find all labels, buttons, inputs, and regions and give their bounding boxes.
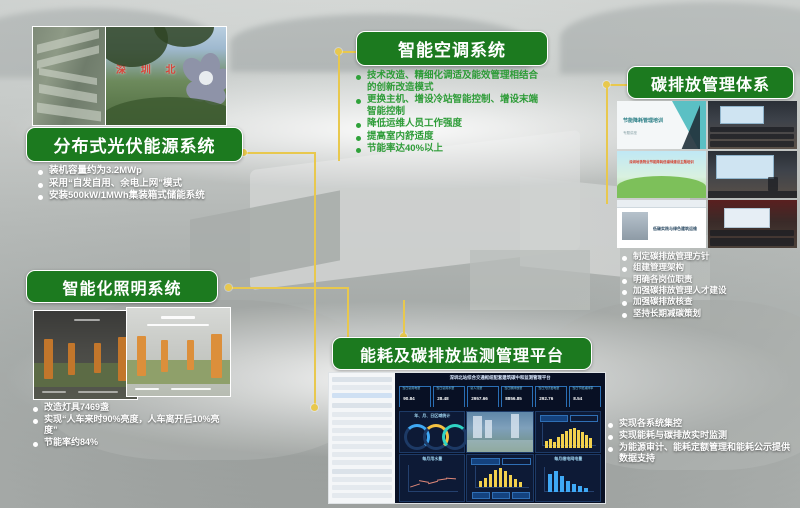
audience-row [710,238,794,246]
list-item: 明确各岗位职责 [622,274,797,284]
panel-monthly-energy [535,411,601,453]
kpi-value: 8856.85 [505,396,522,401]
platform-bullet-2: 实现能耗与碳排放实时监测 [619,430,727,441]
trend-line [410,483,420,487]
gauge-day [442,424,468,450]
bar [504,471,507,487]
bullet-dot [33,419,38,424]
floor-marking [42,391,66,393]
bar [577,430,580,448]
bullet-dot [38,195,43,200]
lighting-bullet-list: 改造灯具7469盏 实现“人车来时90%亮度，人车离开后10%亮度” 节能率约8… [33,402,223,449]
list-item: 组建管理架构 [622,262,797,272]
list-item: 安装500kW/1MWh集装箱式储能系统 [38,190,253,202]
connector-dot-light [225,284,232,291]
kpi-card: 当日光伏发电量 292.76 [535,386,567,407]
thumb-slide-low-carbon-building: 低碳实践与绿色建筑运维 [617,200,706,248]
carbon-bullet-5: 加强碳排放核查 [633,296,693,306]
kpi-card: 当日总用水量 28.48 [433,386,465,407]
bullet-dot [33,442,38,447]
carbon-title-text: 碳排放管理体系 [651,71,770,95]
slide-title: 低碳实践与绿色建筑运维 [653,226,697,232]
sidebar-item[interactable] [332,493,392,498]
connector-pv [243,152,315,154]
bar [549,439,552,448]
sidebar-item[interactable] [332,420,392,425]
photo-flower-pv-station: 深 圳 北 站 [105,26,227,126]
kpi-value: 28.48 [437,396,449,401]
monitoring-dashboard[interactable]: 深圳北站综合交通枢纽配套建筑碳中和监测管理平台 当日总用电量 90.84 当日总… [328,372,606,504]
list-item: 降低运维人员工作强度 [356,118,546,130]
bar [589,438,592,448]
pv-bullet-3: 安装500kW/1MWh集装箱式储能系统 [49,190,205,202]
garage-column [211,334,222,378]
audience-row [710,141,794,147]
footer-tab-daily[interactable] [472,492,490,499]
bar [581,432,584,448]
slide-title: 深圳地铁物业节能降耗低碳绿建设主题培训 [621,159,702,164]
list-item: 加强碳排放管理人才建设 [622,285,797,295]
garage-column [94,343,101,373]
thumb-slide-energy-training: 节能降耗管理培训 专题讲座 [617,101,706,149]
dashboard-main: 深圳北站综合交通枢纽配套建筑碳中和监测管理平台 当日总用电量 90.84 当日总… [395,373,605,503]
connector-light-v [347,287,349,339]
panel-gauge: 年、月、日区域统计 [399,411,465,453]
podium [768,177,778,191]
pv-array-strip [37,103,101,122]
kpi-value: 90.84 [403,396,415,401]
bullet-dot [38,170,43,175]
bullet-dot [622,256,627,261]
bar [578,486,582,492]
bullet-dot [356,123,361,128]
carbon-bullet-6: 坚持长期减碳策划 [633,308,701,318]
slide-subtitle: 专题讲座 [623,131,637,136]
bullet-dot [608,435,613,440]
bar [479,481,482,487]
garage-column [137,336,146,376]
projector-screen [716,155,774,179]
sidebar-item[interactable] [332,477,392,482]
audience-row [710,230,794,236]
bar [509,475,512,487]
y-axis [408,465,409,491]
thumb-photo-conference-red [708,200,797,248]
projector-screen [724,208,770,228]
list-item: 装机容量约为3.2MWp [38,165,253,177]
sidebar-item[interactable] [332,460,392,465]
illustration-hill [617,176,706,198]
bar [545,441,548,448]
panel-title: 每月用水量 [400,456,464,462]
dashboard-sidebar[interactable] [329,373,396,503]
connector-pv-v [314,152,316,407]
panel-site-photo [466,411,534,453]
hvac-bullet-3: 降低运维人员工作强度 [367,118,462,130]
hvac-title-text: 智能空调系统 [398,36,506,61]
bar [569,429,572,448]
photo-garage-bright [126,307,231,397]
pv-array-strip [39,84,97,103]
list-item: 更换主机、增设冷站智能控制、增设末端智能控制 [356,94,546,117]
photo-aerial-rooftop-pv [32,26,108,126]
list-item: 实现“人车来时90%亮度，人车离开后10%亮度” [33,414,223,436]
panel-tab-zone[interactable] [502,458,531,465]
platform-title-pill[interactable]: 能耗及碳排放监测管理平台 [332,337,592,370]
building-illustration [622,212,648,240]
hvac-title-pill[interactable]: 智能空调系统 [356,31,548,66]
ceiling-lamp [74,319,100,321]
garage-column [161,340,168,372]
garage-column [187,340,194,370]
list-item: 制定碳排放管理方针 [622,251,797,261]
slide-accent-shape-dark [680,105,700,149]
hvac-bullet-2: 更换主机、增设冷站智能控制、增设末端智能控制 [367,94,546,117]
x-axis [475,487,529,488]
bullet-dot [622,267,627,272]
building-silhouette [485,420,492,438]
bar [560,476,564,492]
lighting-bullet-1: 改造灯具7469盏 [44,402,109,413]
plaza-ground [467,440,533,452]
photo-garage-dim [33,310,138,400]
y-axis [544,467,545,491]
bar [553,442,556,448]
y-axis [542,423,543,445]
floor-marking [78,391,118,393]
sidebar-group-header [332,469,392,474]
bullet-dot [356,136,361,141]
bar [548,474,552,492]
lighting-bullet-2: 实现“人车来时90%亮度，人车离开后10%亮度” [44,414,223,436]
list-item: 技术改造、精细化调适及能效管理相结合的创新改造模式 [356,70,546,93]
carbon-bullet-3: 明确各岗位职责 [633,274,693,284]
bar [494,470,497,487]
list-item: 提高室内舒适度 [356,131,546,143]
bullet-dot [608,447,613,452]
bullet-dot [356,99,361,104]
list-item: 采用“自发自用、余电上网”模式 [38,178,253,190]
list-item: 节能率达40%以上 [356,143,546,155]
kpi-label: 当日节能减排率 [572,386,593,390]
sidebar-item[interactable] [332,412,392,417]
bar [519,482,522,487]
solar-flower-center [199,71,213,85]
carbon-thumbnail-grid: 节能降耗管理培训 专题讲座 深圳地铁物业节能降耗低碳绿建设主题培训 绿色发展 未… [617,101,797,248]
lighting-title-pill[interactable]: 智能化照明系统 [26,270,218,303]
list-item: 实现能耗与碳排放实时监测 [608,430,794,441]
bullet-dot [33,407,38,412]
hvac-bullet-list: 技术改造、精细化调适及能效管理相结合的创新改造模式 更换主机、增设冷站智能控制、… [356,70,546,156]
kpi-label: 总人流量 [470,386,482,390]
bullet-dot [356,148,361,153]
platform-bullet-3: 为能源审计、能耗定额管理和能耗公示提供数据支持 [619,442,794,464]
pv-array-strip [39,68,97,85]
pv-bullet-1: 装机容量约为3.2MWp [49,165,142,177]
floor-marking [171,388,211,390]
garage-column [68,343,75,375]
kpi-card: 当日碳排放量 8856.85 [501,386,533,407]
sidebar-item[interactable] [332,385,392,390]
carbon-bullet-4: 加强碳排放管理人才建设 [633,285,727,295]
bar [484,478,487,487]
platform-bullet-list: 实现各系统集控 实现能耗与碳排放实时监测 为能源审计、能耗定额管理和能耗公示提供… [608,418,794,465]
bullet-dot [356,75,361,80]
kpi-card: 当日节能减排率 8.54 [569,386,601,407]
sidebar-item-active[interactable] [332,393,392,398]
audience-row [710,134,794,139]
carbon-title-pill[interactable]: 碳排放管理体系 [627,66,794,99]
panel-title: 每月缴电网电量 [536,456,600,462]
panel-energy-detail [466,454,534,502]
bullet-dot [622,279,627,284]
hvac-bullet-5: 节能率达40%以上 [367,143,443,155]
bar [585,435,588,448]
hvac-bullet-4: 提高室内舒适度 [367,131,434,143]
platform-bullet-1: 实现各系统集控 [619,418,682,429]
carbon-bullet-2: 组建管理架构 [633,262,684,272]
panel-tab-itemized[interactable] [471,458,500,465]
connector-hvac-v [338,51,340,161]
floor-marking [135,388,159,390]
pv-bullet-list: 装机容量约为3.2MWp 采用“自发自用、余电上网”模式 安装500kW/1MW… [38,165,253,203]
sidebar-item[interactable] [332,485,392,490]
bullet-dot [38,183,43,188]
list-item: 为能源审计、能耗定额管理和能耗公示提供数据支持 [608,442,794,464]
building-silhouette [473,416,482,438]
pv-title-pill[interactable]: 分布式光伏能源系统 [26,127,243,162]
shrub-foreground [105,97,227,126]
platform-title-text: 能耗及碳排放监测管理平台 [360,342,564,366]
thumb-photo-training-hall [708,101,797,149]
sidebar-group-header [332,403,392,408]
list-item: 实现各系统集控 [608,418,794,429]
bullet-dot [622,313,627,318]
panel-pv: 每月缴电网电量 [535,454,601,502]
lighting-bullet-3: 节能率约84% [44,437,98,448]
kpi-value: 2957.66 [471,396,488,401]
sidebar-item[interactable] [332,428,392,433]
list-item: 节能率约84% [33,437,223,448]
connector-dot-pv-end [311,404,318,411]
kpi-label: 当日碳排放量 [504,386,522,390]
connector-carbon-v [606,84,608,204]
bar [566,481,570,492]
panel-title: 年、月、日区域统计 [400,413,464,419]
thumb-photo-lecture-speaker [708,151,797,199]
bar [561,434,564,448]
list-item: 加强碳排放核查 [622,296,797,306]
bar [584,488,588,492]
footer-tab-monthly[interactable] [492,492,510,499]
footer-tab-yearly[interactable] [512,492,530,499]
bar [565,431,568,448]
bar [554,471,558,492]
bullet-dot [622,290,627,295]
garage-column [44,339,53,379]
sidebar-item[interactable] [332,444,392,449]
bar [557,437,560,448]
kpi-value: 8.54 [573,396,582,401]
ceiling-lamp [147,324,209,326]
kpi-label: 当日光伏发电量 [538,386,559,390]
bar [489,474,492,487]
carbon-bullet-list: 制定碳排放管理方针 组建管理架构 明确各岗位职责 加强碳排放管理人才建设 加强碳… [622,251,797,319]
thumb-slide-green-carbon: 深圳地铁物业节能降耗低碳绿建设主题培训 绿色发展 未来共享 [617,151,706,199]
bar [499,468,502,487]
sidebar-item[interactable] [332,436,392,441]
kpi-card: 当日总用电量 90.84 [399,386,431,407]
building-silhouette [511,414,519,438]
kpi-card: 总人流量 2957.66 [467,386,499,407]
bullet-dot [608,423,613,428]
audience-row [710,127,794,132]
panel-water: 每月用水量 [399,454,465,502]
dashboard-title: 深圳北站综合交通枢纽配套建筑碳中和监测管理平台 [395,375,605,381]
bullet-dot [622,301,627,306]
bar [572,484,576,492]
hvac-bullet-1: 技术改造、精细化调适及能效管理相结合的创新改造模式 [367,70,546,93]
slide-topbar [617,200,706,208]
slide-title: 节能降耗管理培训 [623,117,663,124]
kpi-label: 当日总用水量 [436,386,454,390]
list-item: 改造灯具7469盏 [33,402,223,413]
connector-platform-v [403,300,405,336]
trend-line [428,481,438,484]
pv-title-text: 分布式光伏能源系统 [54,132,216,157]
projector-screen [720,106,764,124]
sidebar-item[interactable] [332,452,392,457]
connector-light [228,287,348,289]
stage-floor [708,191,797,199]
lighting-title-text: 智能化照明系统 [62,275,181,299]
kpi-label: 当日总用电量 [402,386,420,390]
panel-tab-electricity[interactable] [540,415,568,422]
y-axis [475,466,476,487]
bar [573,428,576,448]
sidebar-group-header [332,377,392,382]
trend-line [446,478,456,480]
kpi-value: 292.76 [539,396,553,401]
bar [514,479,517,487]
x-axis [408,491,458,492]
panel-tab-water[interactable] [570,415,598,422]
list-item: 坚持长期减碳策划 [622,308,797,318]
ceiling-lamp [161,316,195,319]
pv-bullet-2: 采用“自发自用、余电上网”模式 [49,178,182,190]
carbon-bullet-1: 制定碳排放管理方针 [633,251,710,261]
